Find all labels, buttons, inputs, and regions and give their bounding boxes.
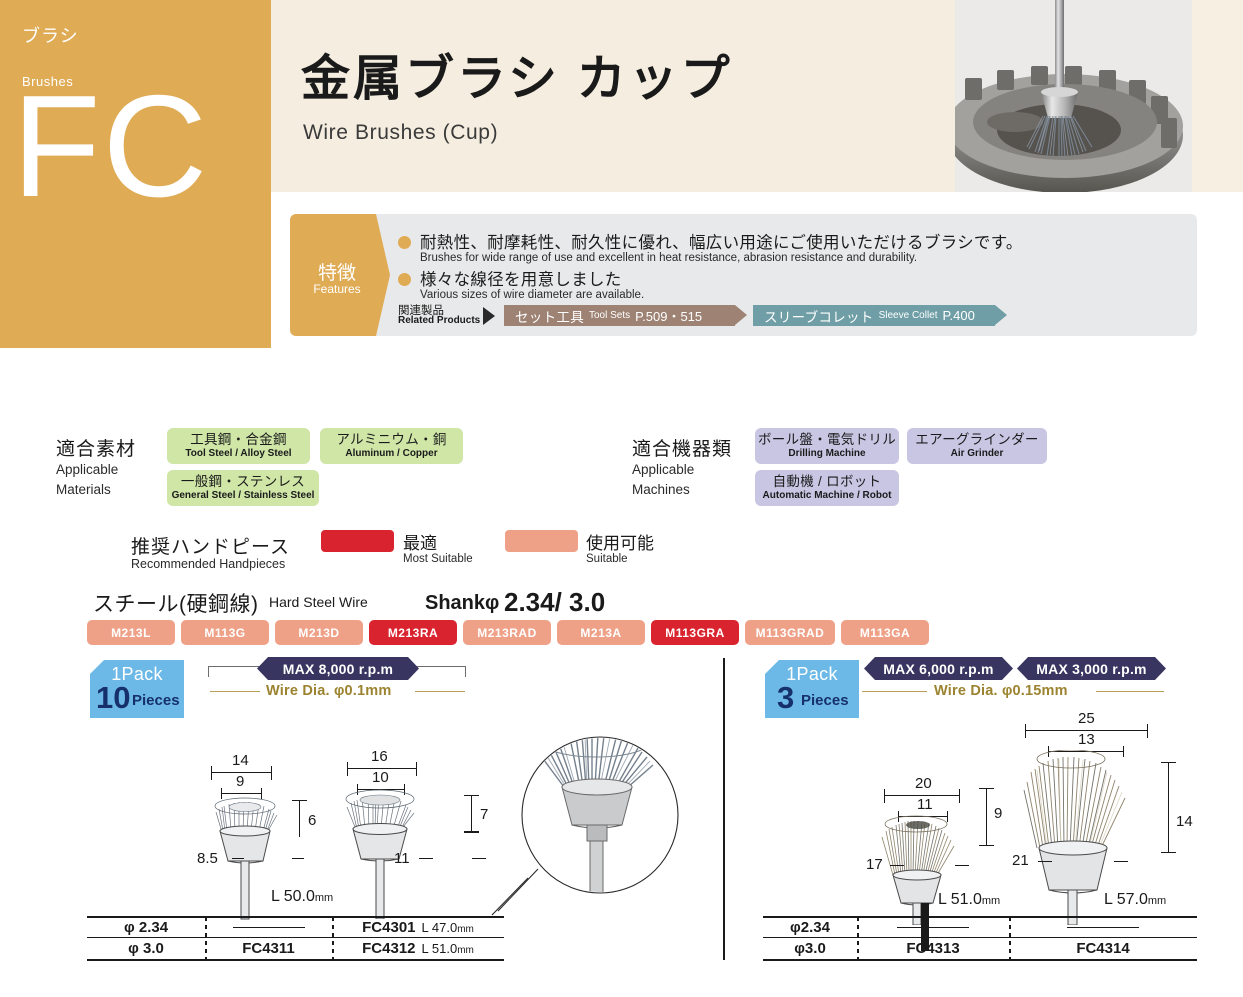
dim-outer-dia: 14	[232, 752, 249, 769]
handpieces-label-jp: 推奨ハンドピース	[131, 532, 290, 559]
table-row: φ2.34	[763, 917, 1197, 938]
wire-type-en: Hard Steel Wire	[269, 594, 368, 610]
wire-type-jp: スチール(硬鋼線)	[93, 588, 259, 618]
dim-tick	[347, 762, 348, 776]
legend-suitable-jp: 使用可能	[586, 529, 654, 554]
chip-label-jp: スリーブコレット	[764, 306, 874, 326]
cell-model-2: FC4314	[1009, 938, 1197, 959]
dim-tick	[1038, 861, 1052, 862]
chip-page: P.509・515	[635, 306, 702, 325]
related-products-label-en: Related Products	[398, 315, 480, 326]
length-label-right-2: L 57.0mm	[1104, 891, 1166, 909]
cell-model-2: FC4301 L 47.0mm	[332, 917, 504, 938]
length-label-right-1: L 51.0mm	[938, 891, 1000, 909]
rpm-badge-left: MAX 8,000 r.p.m	[257, 657, 419, 680]
applicable-materials-label-en1: Applicable	[56, 462, 118, 477]
handpiece-model-m113ga[interactable]: M113GA	[841, 620, 929, 645]
tag-label-jp: アルミニウム・銅	[336, 432, 446, 448]
handpiece-model-m213ra[interactable]: M213RA	[369, 620, 457, 645]
legend-most-suitable-en: Most Suitable	[403, 553, 473, 565]
dim-inner-dia: 9	[236, 773, 244, 790]
table-row: φ 2.34 FC4301 L 47.0mm	[87, 917, 504, 938]
features-tab-label-en: Features	[298, 282, 376, 296]
related-chip-tool-sets[interactable]: セット工具 Tool Sets P.509・515	[504, 305, 747, 326]
legend-most-suitable-jp: 最適	[403, 529, 437, 554]
dim-brush-height: 9	[994, 805, 1002, 822]
dim-brush-height: 6	[308, 812, 316, 829]
feature-text-en: Brushes for wide range of use and excell…	[420, 252, 917, 264]
pack-count: 3	[777, 682, 794, 713]
tag-label-en: Aluminum / Copper	[345, 448, 437, 460]
dim-tick	[472, 858, 486, 859]
category-code: FC	[12, 74, 209, 219]
material-tag-general-stainless: 一般鋼・ステンレス General Steel / Stainless Stee…	[167, 470, 319, 506]
dim-tick	[1025, 724, 1026, 738]
dim-tick	[890, 865, 904, 866]
right-arrow-icon	[483, 307, 495, 325]
handpiece-model-m113g[interactable]: M113G	[181, 620, 269, 645]
tag-label-jp: 一般鋼・ステンレス	[181, 474, 305, 490]
machine-tag-automatic-robot: 自動機 / ロボット Automatic Machine / Robot	[755, 470, 899, 506]
applicable-machines-label-en1: Applicable	[632, 462, 694, 477]
cell-model-2	[1009, 917, 1197, 938]
cell-model-1	[205, 917, 332, 938]
handpiece-model-m213d[interactable]: M213D	[275, 620, 363, 645]
dim-line-height	[299, 800, 300, 837]
category-label-jp: ブラシ	[22, 22, 79, 48]
dim-inner-dia: 13	[1078, 731, 1095, 748]
applicable-machines-label-en2: Machines	[632, 482, 690, 497]
dim-tick	[1147, 724, 1148, 738]
pack-badge-left: 1Pack 10 Pieces	[90, 660, 184, 718]
features-tab: 特徴 Features	[290, 214, 376, 336]
table-row: φ3.0 FC4313 FC4314	[763, 938, 1197, 959]
rpm-badge-right-1: MAX 6,000 r.p.m	[864, 657, 1013, 680]
bullet-dot-icon	[398, 273, 411, 286]
bullet-dot-icon	[398, 236, 411, 249]
features-panel: 特徴 Features 耐熱性、耐摩耗性、耐久性に優れ、幅広い用途にご使用いただ…	[290, 214, 1197, 336]
dim-outer-dia: 25	[1078, 710, 1095, 727]
handpiece-model-m113grad[interactable]: M113GRAD	[745, 620, 835, 645]
dim-inner-dia: 11	[917, 796, 933, 813]
feature-text-en: Various sizes of wire diameter are avail…	[420, 289, 644, 301]
applicable-materials-label-en2: Materials	[56, 482, 111, 497]
rpm-badge-right-2: MAX 3,000 r.p.m	[1017, 657, 1166, 680]
legend-swatch-suitable	[505, 530, 578, 552]
wire-dia-rule-right-2	[1096, 691, 1164, 692]
length-label-left-1: L 50.0mm	[271, 888, 333, 906]
tag-label-jp: エアーグラインダー	[915, 432, 1038, 448]
tag-label-jp: ボール盤・電気ドリル	[758, 432, 896, 448]
cell-model-1: FC4311	[205, 938, 332, 959]
dim-tick	[232, 858, 244, 859]
cell-model-1: FC4313	[857, 938, 1009, 959]
dim-cup-dia: 17	[866, 856, 883, 873]
feature-text-jp: 様々な線径を用意しました	[420, 266, 622, 290]
tag-label-en: Tool Steel / Alloy Steel	[185, 448, 291, 460]
handpiece-model-m213a[interactable]: M213A	[557, 620, 645, 645]
page-title-jp: 金属ブラシ カップ	[301, 55, 733, 104]
pack-count: 10	[96, 682, 130, 713]
dim-brush-height: 14	[1176, 813, 1193, 830]
dim-tick	[211, 766, 212, 780]
dim-tick	[1161, 762, 1176, 763]
cell-shank: φ 3.0	[87, 938, 205, 959]
catalog-page: ブラシ Brushes FC 金属ブラシ カップ Wire Brushes (C…	[0, 0, 1243, 997]
category-sidebar: ブラシ Brushes FC	[0, 0, 271, 348]
dim-cup-dia: 11	[394, 850, 410, 867]
handpieces-label-en: Recommended Handpieces	[131, 557, 285, 571]
shank-label: Shankφ	[425, 592, 499, 615]
dim-tick	[419, 858, 433, 859]
cell-model-2: FC4312 L 51.0mm	[332, 938, 504, 959]
header-cream-strip	[1192, 0, 1243, 192]
dim-tick	[884, 789, 885, 803]
related-chip-sleeve-collet[interactable]: スリーブコレット Sleeve Collet P.400	[753, 305, 1007, 326]
tag-label-en: Drilling Machine	[788, 448, 865, 460]
dim-line-height	[471, 795, 472, 832]
cell-shank: φ3.0	[763, 938, 857, 959]
dim-tick	[979, 788, 994, 789]
tag-label-en: General Steel / Stainless Steel	[172, 490, 315, 502]
dim-line-inner	[221, 793, 262, 794]
dim-tick	[464, 795, 479, 796]
brush-illustration	[337, 789, 433, 919]
chip-page: P.400	[943, 308, 975, 323]
dim-tick	[1161, 852, 1176, 853]
applicable-materials-label-jp: 適合素材	[56, 434, 136, 461]
wire-dia-label-left: Wire Dia. φ0.1mm	[266, 683, 391, 699]
shank-value: 2.34/ 3.0	[504, 587, 605, 618]
pack-badge-right: 1Pack 3 Pieces	[765, 660, 859, 718]
page-title-en: Wire Brushes (Cup)	[303, 121, 498, 145]
legend-swatch-most-suitable	[321, 530, 394, 552]
dim-inner-dia: 10	[372, 769, 389, 786]
pack-unit: Pieces	[801, 692, 849, 709]
applicable-machines-label-jp: 適合機器類	[632, 434, 732, 461]
dim-tick	[271, 766, 272, 780]
dim-tick	[955, 865, 969, 866]
chip-label-en: Tool Sets	[589, 310, 630, 321]
dim-outer-dia: 16	[371, 748, 388, 765]
handpiece-model-m213rad[interactable]: M213RAD	[463, 620, 551, 645]
feature-text-jp: 耐熱性、耐摩耗性、耐久性に優れ、幅広い用途にご使用いただけるブラシです。	[420, 229, 1023, 253]
wire-dia-label-right: Wire Dia. φ0.15mm	[934, 683, 1068, 699]
wire-dia-rule-right-1	[862, 691, 927, 692]
table-row: φ 3.0 FC4311 FC4312 L 51.0mm	[87, 938, 504, 959]
dim-brush-height: 7	[480, 806, 488, 823]
wire-dia-rule-left-2	[415, 691, 465, 692]
material-tag-tool-steel: 工具鋼・合金鋼 Tool Steel / Alloy Steel	[167, 428, 310, 464]
handpiece-model-list: M213LM113GM213DM213RAM213RADM213AM113GRA…	[87, 620, 929, 645]
machine-tag-drilling-machine: ボール盤・電気ドリル Drilling Machine	[755, 428, 899, 464]
chip-label-jp: セット工具	[515, 306, 584, 326]
cell-shank: φ 2.34	[87, 917, 205, 938]
handpiece-model-m113gra[interactable]: M113GRA	[651, 620, 739, 645]
pack-unit: Pieces	[132, 692, 180, 709]
dim-tick	[979, 845, 994, 846]
features-tab-label-jp: 特徴	[298, 258, 376, 285]
legend-suitable-en: Suitable	[586, 553, 628, 565]
dim-tick	[959, 789, 960, 803]
cell-model-1	[857, 917, 1009, 938]
dim-tick	[292, 858, 304, 859]
dim-cup-dia: 21	[1012, 852, 1029, 869]
tag-label-en: Automatic Machine / Robot	[763, 490, 892, 502]
dim-tick	[1114, 861, 1128, 862]
chip-label-en: Sleeve Collet	[879, 310, 938, 321]
cell-shank: φ2.34	[763, 917, 857, 938]
tag-label-jp: 工具鋼・合金鋼	[190, 432, 287, 448]
dim-cup-dia: 8.5	[197, 850, 218, 867]
machine-tag-air-grinder: エアーグラインダー Air Grinder	[907, 428, 1047, 464]
dim-tick	[464, 831, 479, 833]
product-photo	[955, 0, 1192, 192]
dim-tick	[416, 762, 417, 776]
dim-line-height	[1168, 762, 1169, 853]
wire-dia-rule-left-1	[210, 691, 260, 692]
panel-divider	[723, 658, 725, 960]
handpiece-model-m213l[interactable]: M213L	[87, 620, 175, 645]
material-tag-aluminum-copper: アルミニウム・銅 Aluminum / Copper	[320, 428, 463, 464]
dim-tick	[292, 800, 307, 801]
dim-line-height	[986, 788, 987, 846]
tag-label-jp: 自動機 / ロボット	[773, 474, 882, 490]
dim-outer-dia: 20	[915, 775, 932, 792]
tag-label-en: Air Grinder	[951, 448, 1004, 460]
